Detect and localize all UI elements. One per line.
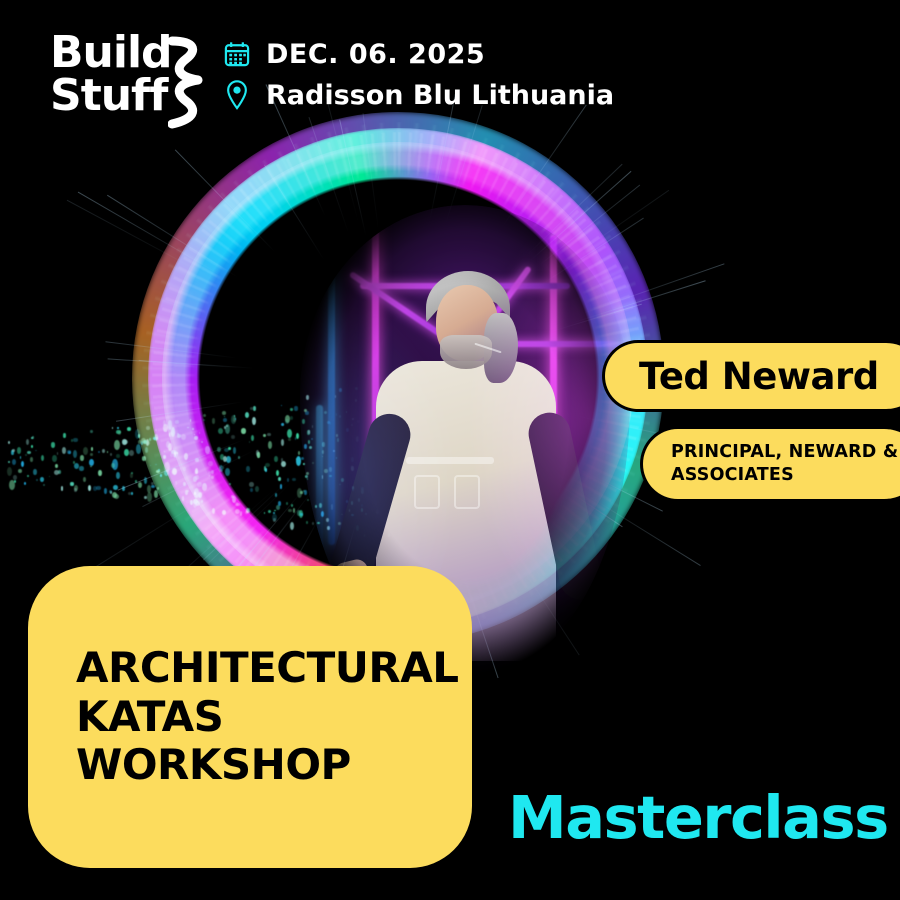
speaker-role-badge: PRINCIPAL, NEWARD & ASSOCIATES [640, 426, 900, 502]
speaker-name: Ted Neward [639, 355, 879, 398]
poster-header: Build Stuff [0, 0, 900, 117]
speaker-beard [440, 335, 492, 369]
map-pin-icon [222, 79, 252, 111]
event-date-row: DEC. 06. 2025 [222, 38, 614, 70]
session-title-card: ARCHITECTURAL KATAS WORKSHOP [28, 566, 472, 868]
squiggle-mark-icon [168, 36, 204, 130]
neon-bar-blue-left [328, 245, 335, 545]
speaker-role: PRINCIPAL, NEWARD & ASSOCIATES [671, 441, 900, 487]
calendar-icon [222, 38, 252, 70]
event-meta: DEC. 06. 2025 Radisson Blu Lithuania [222, 32, 614, 117]
session-title: ARCHITECTURAL KATAS WORKSHOP [28, 644, 458, 790]
build-stuff-logo[interactable]: Build Stuff [50, 32, 200, 117]
event-date: DEC. 06. 2025 [266, 39, 485, 70]
speaker-name-badge: Ted Neward [602, 340, 900, 412]
event-promo-poster: Build Stuff [0, 0, 900, 900]
session-format-label: Masterclass [508, 788, 888, 847]
event-venue-row: Radisson Blu Lithuania [222, 79, 614, 111]
tshirt-graphic [402, 457, 498, 513]
event-venue: Radisson Blu Lithuania [266, 80, 614, 111]
